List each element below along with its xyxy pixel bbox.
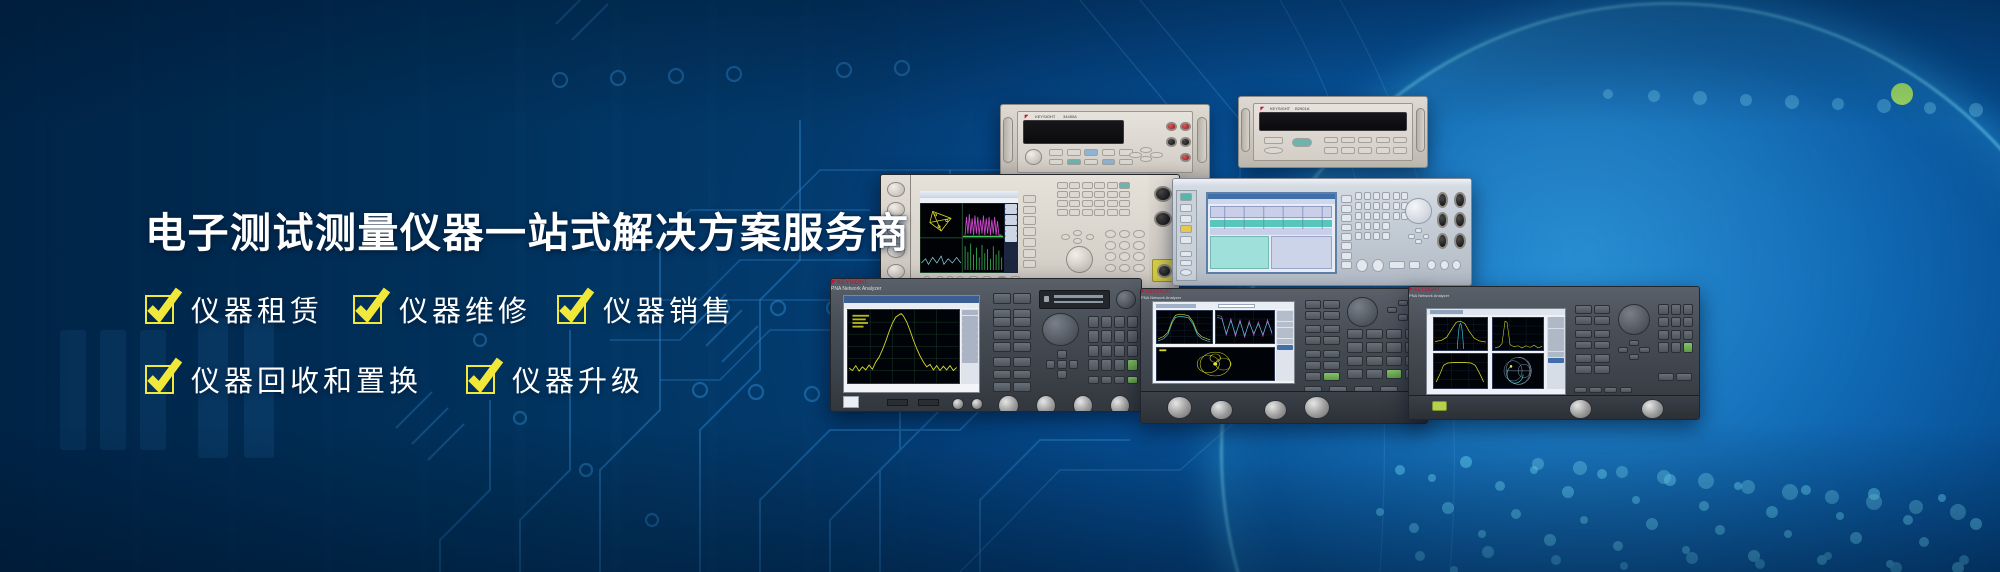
- feature-item-sales[interactable]: 仪器销售: [557, 288, 735, 330]
- checkbox-checked-icon: [557, 295, 586, 324]
- checkbox-checked-icon: [353, 295, 382, 324]
- feature-item-rental[interactable]: 仪器租赁: [145, 288, 323, 330]
- checkbox-checked-icon: [145, 365, 174, 394]
- checkbox-checked-icon: [145, 295, 174, 324]
- feature-label: 仪器回收和置换: [191, 358, 422, 400]
- feature-label: 仪器维修: [399, 288, 531, 330]
- feature-label: 仪器租赁: [191, 288, 323, 330]
- feature-item-upgrade[interactable]: 仪器升级: [466, 358, 644, 400]
- feature-row-top: 仪器租赁 仪器维修 仪器销售: [145, 288, 735, 330]
- promo-banner: ◤ KEYSIGHT 34450A: [0, 0, 2000, 572]
- feature-item-repair[interactable]: 仪器维修: [353, 288, 531, 330]
- checkbox-checked-icon: [466, 365, 495, 394]
- feature-item-recycle[interactable]: 仪器回收和置换: [145, 358, 422, 400]
- feature-label: 仪器升级: [512, 358, 644, 400]
- feature-label: 仪器销售: [603, 288, 735, 330]
- feature-row-bottom: 仪器回收和置换 仪器升级: [145, 358, 644, 400]
- page-title: 电子测试测量仪器一站式解决方案服务商: [145, 213, 910, 254]
